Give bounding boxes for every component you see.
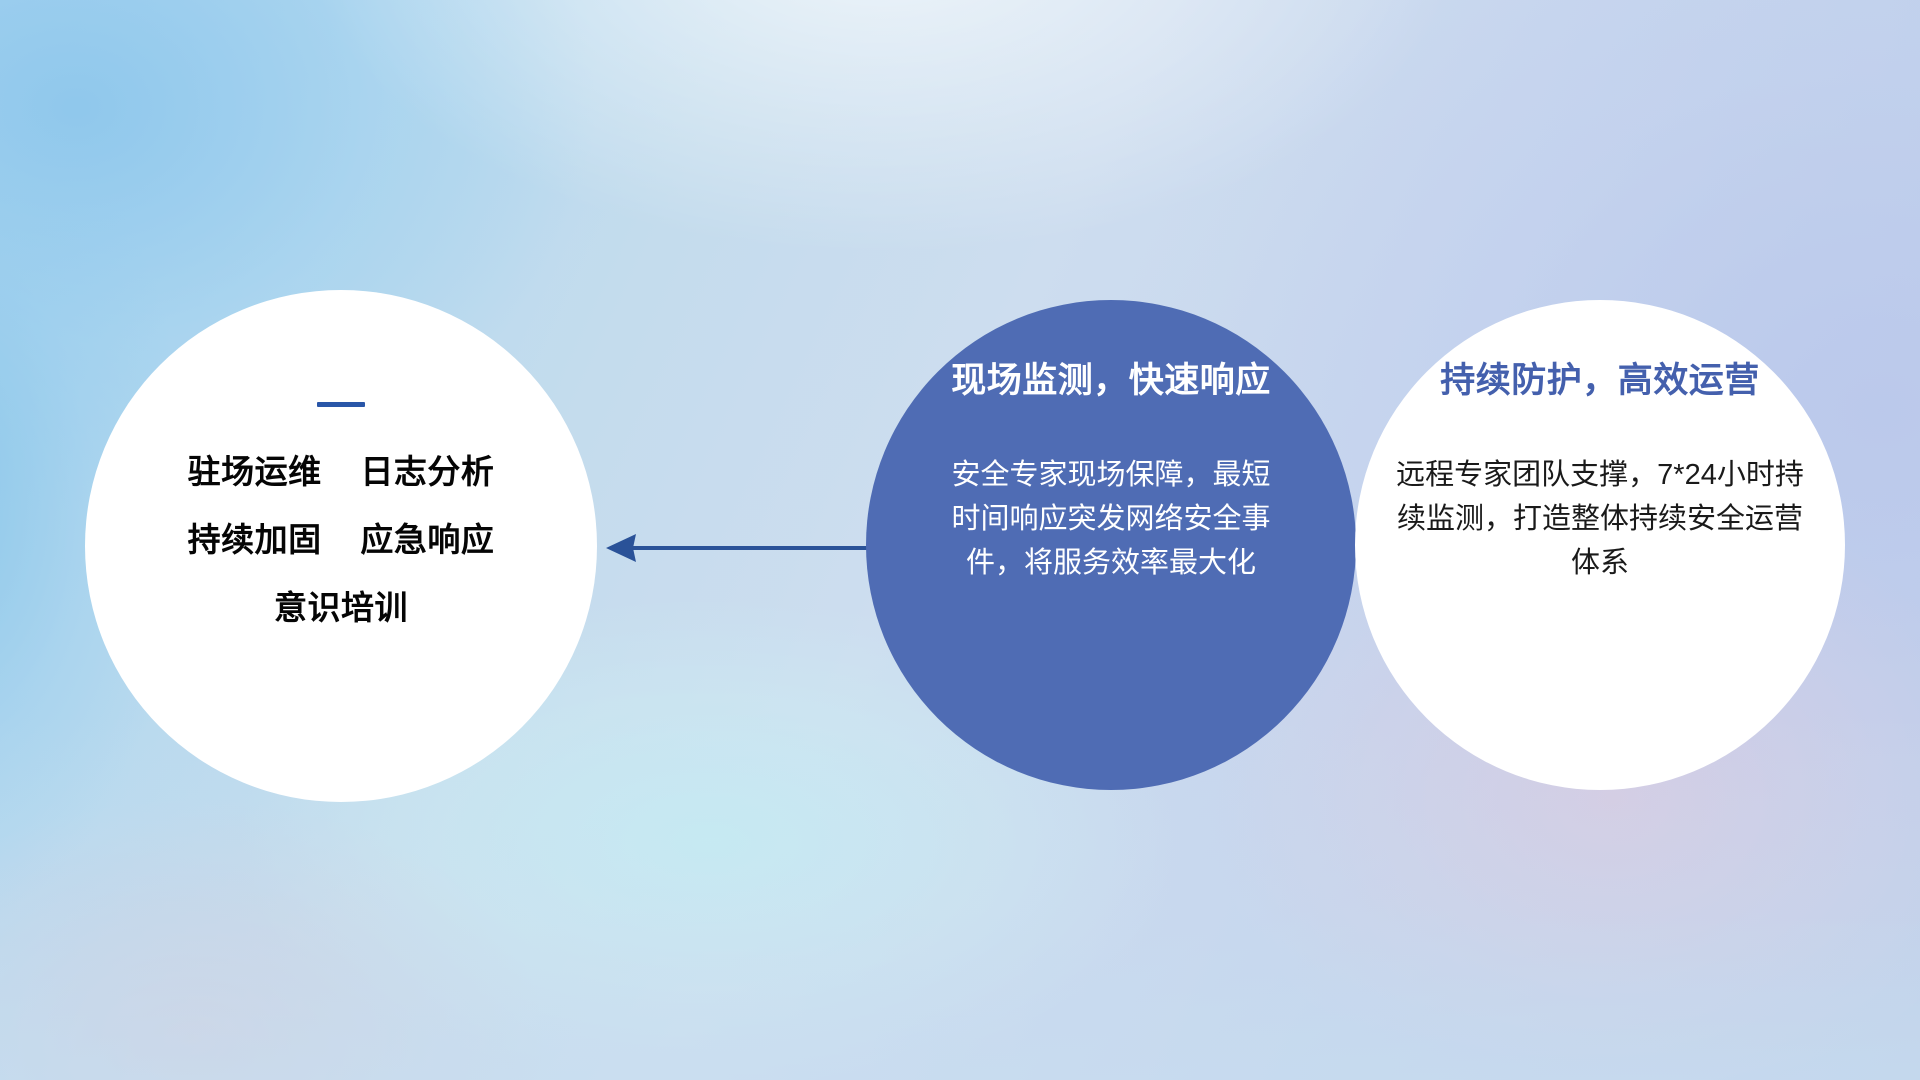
driven-ops-content: 驻场运维 日志分析 持续加固 应急响应 意识培训 bbox=[85, 402, 597, 624]
divider-dash-icon bbox=[317, 402, 365, 407]
driven-ops-line-1: 驻场运维 日志分析 bbox=[188, 455, 495, 488]
continuous-protection-body: 远程专家团队支撑，7*24小时持续监测，打造整体持续安全运营体系 bbox=[1395, 453, 1805, 585]
onsite-monitoring-circle[interactable]: 现场监测，快速响应 安全专家现场保障，最短时间响应突发网络安全事件，将服务效率最… bbox=[866, 300, 1356, 790]
slide-canvas: 驻场运维 日志分析 持续加固 应急响应 意识培训 现场监测，快速响应 安全专家现… bbox=[0, 0, 1920, 1080]
continuous-protection-circle[interactable]: 持续防护，高效运营 远程专家团队支撑，7*24小时持续监测，打造整体持续安全运营… bbox=[1355, 300, 1845, 790]
onsite-monitoring-title: 现场监测，快速响应 bbox=[951, 362, 1271, 401]
arrow-head-icon bbox=[606, 534, 636, 562]
onsite-monitoring-body: 安全专家现场保障，最短时间响应突发网络安全事件，将服务效率最大化 bbox=[946, 453, 1276, 585]
driven-ops-circle[interactable]: 驻场运维 日志分析 持续加固 应急响应 意识培训 bbox=[85, 290, 597, 802]
driven-ops-line-3: 意识培训 bbox=[274, 591, 408, 624]
continuous-protection-title: 持续防护，高效运营 bbox=[1440, 362, 1760, 401]
leftward-flow-arrow bbox=[600, 520, 890, 576]
driven-ops-line-2: 持续加固 应急响应 bbox=[188, 523, 495, 556]
